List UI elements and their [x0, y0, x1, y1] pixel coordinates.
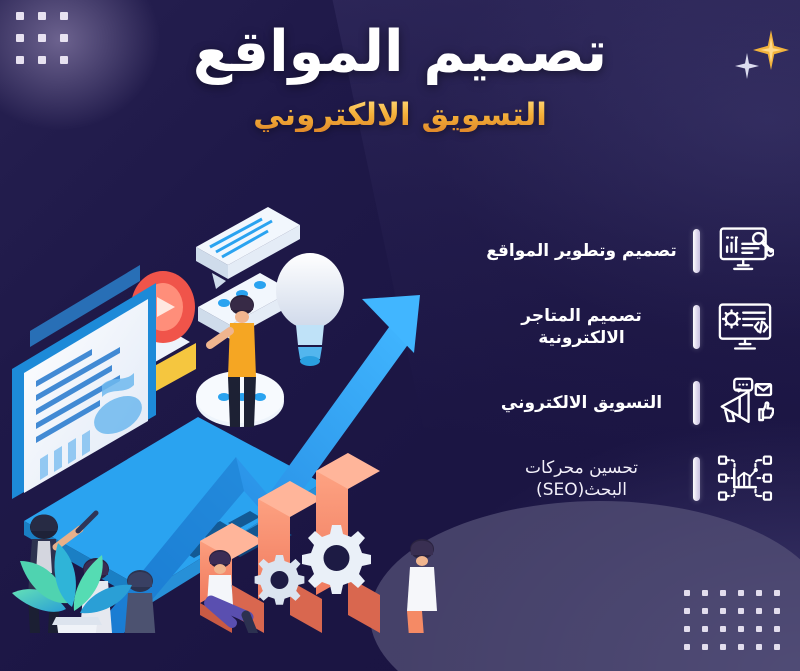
dot	[684, 626, 690, 632]
dot	[774, 644, 780, 650]
service-label: تحسين محركات البحث(SEO)	[478, 457, 681, 502]
dot	[756, 590, 762, 596]
service-divider	[693, 457, 700, 501]
service-label: التسويق الالكتروني	[478, 392, 681, 414]
dot	[756, 626, 762, 632]
dot	[720, 626, 726, 632]
service-item-seo[interactable]: تحسين محركات البحث(SEO)	[478, 444, 778, 514]
megaphone-marketing-icon	[712, 373, 778, 433]
services-list: تصميم وتطوير المواقع تصميم المتاجر الالك…	[478, 216, 778, 514]
isometric-web-team-illustration	[0, 203, 470, 633]
service-divider	[693, 381, 700, 425]
page-title: تصميم المواقع	[0, 22, 800, 84]
monitor-wrench-icon	[712, 221, 778, 281]
dot	[738, 626, 744, 632]
service-divider	[693, 229, 700, 273]
dot	[720, 590, 726, 596]
dot	[738, 590, 744, 596]
dot	[60, 12, 68, 20]
dot	[702, 644, 708, 650]
dot	[702, 608, 708, 614]
dot	[774, 608, 780, 614]
dot	[720, 608, 726, 614]
page-subtitle: التسويق الالكتروني	[0, 98, 800, 132]
service-item-ecommerce[interactable]: تصميم المتاجر الالكترونية	[478, 292, 778, 362]
dot	[774, 590, 780, 596]
dot	[38, 12, 46, 20]
headline-block: تصميم المواقع التسويق الالكتروني	[0, 22, 800, 132]
dot	[684, 590, 690, 596]
service-divider	[693, 305, 700, 349]
dot	[720, 644, 726, 650]
service-label: تصميم المتاجر الالكترونية	[478, 305, 681, 350]
service-item-web-development[interactable]: تصميم وتطوير المواقع	[478, 216, 778, 286]
dot	[774, 626, 780, 632]
dot	[756, 608, 762, 614]
dot	[702, 626, 708, 632]
dot	[738, 644, 744, 650]
dot	[16, 12, 24, 20]
banner-canvas: تصميم المواقع التسويق الالكتروني تصميم و…	[0, 0, 800, 671]
dot	[756, 644, 762, 650]
monitor-gear-code-icon	[712, 297, 778, 357]
dot-grid-bottom-right	[683, 590, 780, 651]
dot	[684, 608, 690, 614]
service-label: تصميم وتطوير المواقع	[478, 240, 681, 262]
dot	[702, 590, 708, 596]
service-item-digital-marketing[interactable]: التسويق الالكتروني	[478, 368, 778, 438]
dot	[684, 644, 690, 650]
seo-analytics-icon	[712, 449, 778, 509]
dot	[738, 608, 744, 614]
